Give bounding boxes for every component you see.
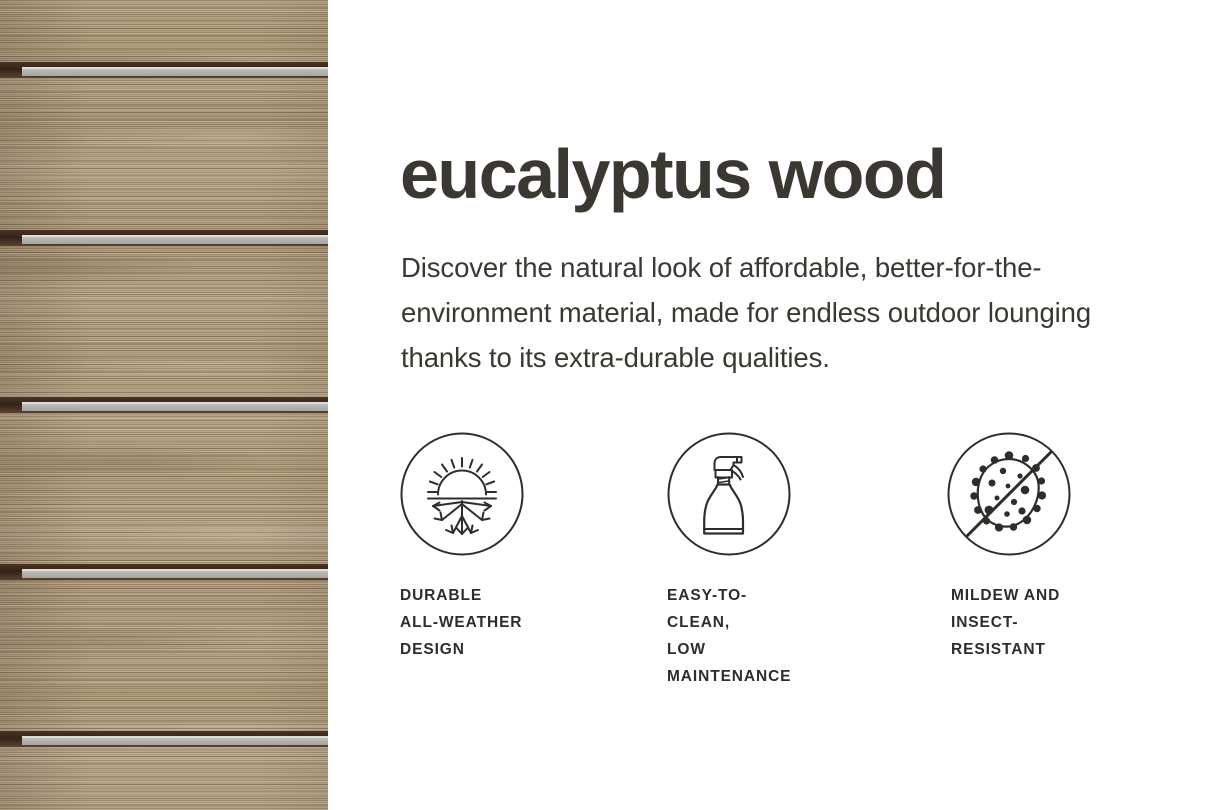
slat-gap-rail-highlight xyxy=(22,569,328,571)
eucalyptus-slat-panel-photo xyxy=(0,0,328,810)
slat-gap-rail-highlight xyxy=(22,736,328,738)
slat-gap xyxy=(0,731,328,747)
slat-gap xyxy=(0,564,328,580)
slat-gap xyxy=(0,397,328,413)
feature-label: EASY-TO-CLEAN, LOW MAINTENANCE xyxy=(667,582,791,690)
description-text: Discover the natural look of affordable,… xyxy=(401,245,1141,380)
sun-over-roots-icon xyxy=(400,432,524,556)
slat-gap xyxy=(0,230,328,246)
slat-gap-rail-highlight xyxy=(22,235,328,237)
slat-gap xyxy=(0,62,328,78)
feature-item-easy-to-clean: EASY-TO-CLEAN, LOW MAINTENANCE xyxy=(667,432,791,556)
slat-gap-rail-highlight xyxy=(22,402,328,404)
feature-item-mildew-resistant: MILDEW AND INSECT-RESISTANT xyxy=(947,432,1071,556)
spray-bottle-icon xyxy=(667,432,791,556)
content-column: eucalyptus wood Discover the natural loo… xyxy=(328,0,1214,810)
feature-label: DURABLE ALL-WEATHER DESIGN xyxy=(400,582,522,663)
page-title: eucalyptus wood xyxy=(400,139,945,209)
slat-gap-rail-highlight xyxy=(22,67,328,69)
feature-label: MILDEW AND INSECT-RESISTANT xyxy=(951,582,1071,663)
product-feature-panel: eucalyptus wood Discover the natural loo… xyxy=(0,0,1214,810)
no-germs-icon xyxy=(947,432,1071,556)
feature-item-durable: DURABLE ALL-WEATHER DESIGN xyxy=(400,432,524,556)
